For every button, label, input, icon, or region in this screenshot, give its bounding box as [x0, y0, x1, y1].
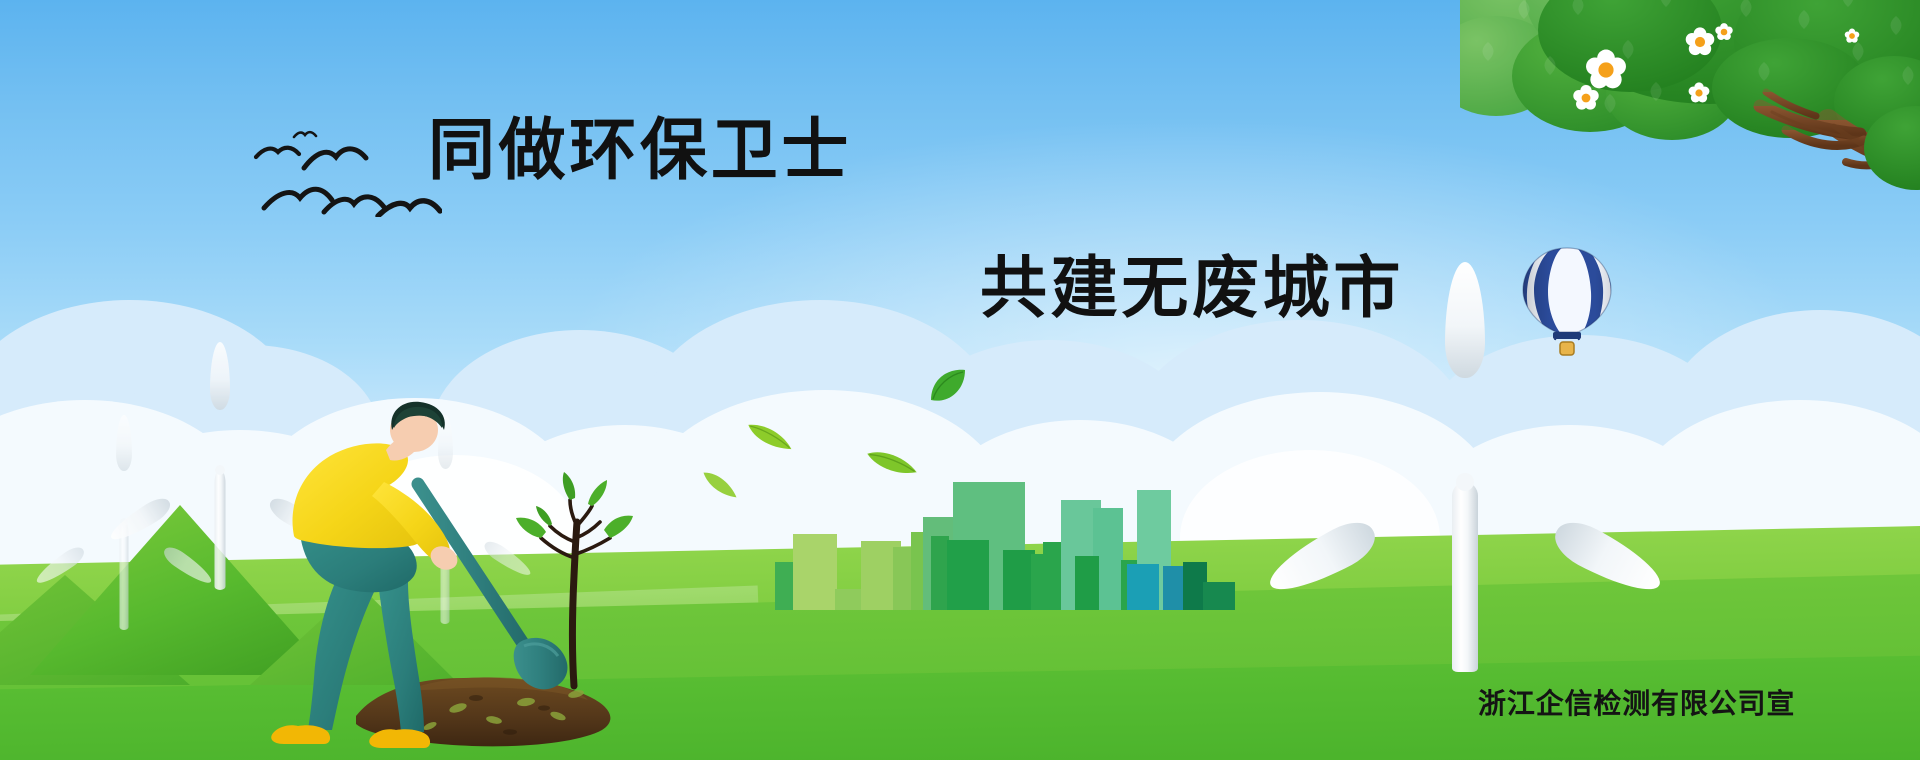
blossom-tree: [1460, 0, 1920, 200]
skyline-building: [793, 534, 837, 610]
floating-leaf-4: [697, 466, 743, 505]
floating-leaf-3: [865, 442, 920, 484]
poster-banner: 同做环保卫士 共建无废城市 浙江企信检测有限公司宣: [0, 0, 1920, 760]
hot-air-balloon: [1512, 242, 1622, 362]
wind-turbine-background-2: [78, 470, 170, 610]
skyline-building: [1043, 542, 1063, 610]
planting-scene: [258, 386, 678, 760]
green-city-skyline: [775, 470, 1235, 610]
skyline-building: [1203, 582, 1235, 610]
company-credit: 浙江企信检测有限公司宣: [1478, 682, 1795, 722]
skyline-building: [1127, 564, 1159, 610]
headline-line-2: 共建无废城市: [980, 255, 1404, 322]
headline-line-1: 同做环保卫士: [428, 117, 852, 184]
floating-leaf-1: [925, 366, 969, 410]
floating-leaf-2: [743, 415, 798, 458]
skyline-building: [947, 540, 989, 610]
flying-birds: [252, 112, 442, 217]
wind-turbine-main: [1355, 378, 1575, 638]
skyline-building: [1075, 556, 1099, 610]
